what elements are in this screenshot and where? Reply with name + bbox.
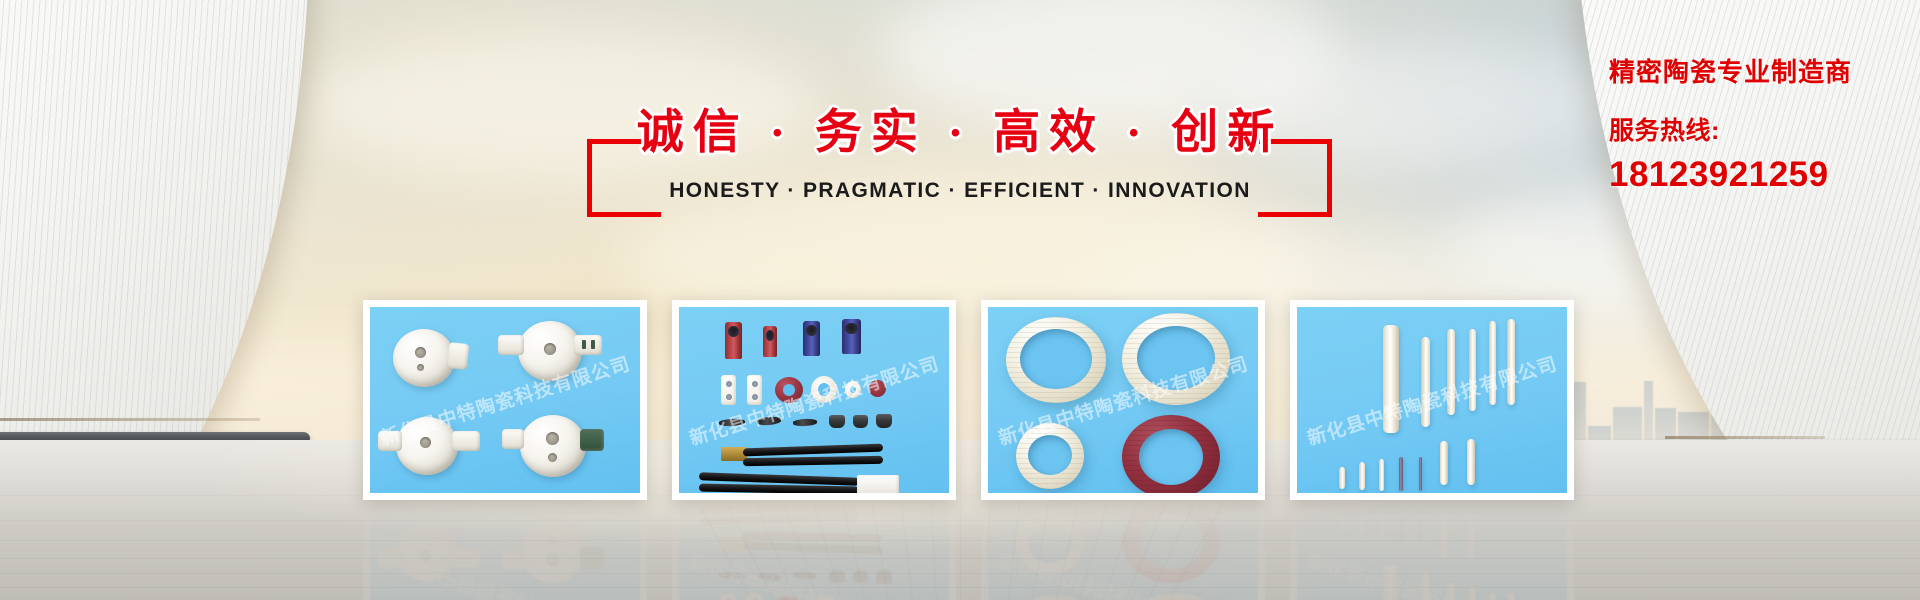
- holder-hole: [415, 347, 426, 358]
- panel-reflection: 新化县中特陶瓷科技有限公司: [672, 498, 956, 600]
- ceramic-ring-white: [811, 376, 837, 403]
- contact-tip: [757, 572, 782, 582]
- ceramic-ring-maroon: [775, 595, 803, 600]
- panel-image-area: 新化县中特陶瓷科技有限公司: [988, 505, 1258, 600]
- ceramic-rod-small-dark: [1419, 457, 1422, 491]
- ceramic-ring-small-white: [845, 381, 861, 398]
- product-panel-ceramic-rings[interactable]: 新化县中特陶瓷科技有限公司: [981, 300, 1265, 500]
- panel-reflection: 新化县中特陶瓷科技有限公司: [363, 498, 647, 600]
- panel-watermark: 新化县中特陶瓷科技有限公司: [1304, 547, 1561, 600]
- ceramic-rod-small-dark: [1399, 507, 1403, 541]
- contact-cap: [876, 414, 892, 428]
- ceramic-sleeve-red: [725, 322, 742, 359]
- hotline-label: 服务热线:: [1609, 111, 1852, 147]
- ceramic-rod: [1507, 319, 1515, 405]
- ceramic-ring-large: [1122, 313, 1230, 405]
- ceramic-rod-small: [1440, 513, 1448, 557]
- ceramic-rod: [1469, 587, 1476, 600]
- ceramic-ring-large: [1006, 595, 1106, 600]
- product-panel-ceramic-lamp-holders[interactable]: 新化县中特陶瓷科技有限公司: [363, 300, 647, 500]
- ceramic-plate: [747, 375, 762, 405]
- ceramic-ring-large: [1122, 593, 1230, 600]
- contact-cap: [829, 415, 845, 428]
- panel-floor-reflections: 新化县中特陶瓷科技有限公司: [0, 498, 1920, 600]
- holder-hole: [548, 536, 557, 545]
- panel-image-area: 新化县中特陶瓷科技有限公司: [988, 307, 1258, 493]
- ceramic-rod-small: [1467, 439, 1475, 485]
- holder-pin: [591, 340, 595, 349]
- ceramic-lamp-holder: [396, 417, 458, 475]
- holder-pin: [582, 340, 586, 349]
- ceramic-rod-small-dark: [1419, 507, 1422, 541]
- ceramic-rod-small: [1359, 508, 1365, 536]
- product-panel-ceramic-rods[interactable]: 新化县中特陶瓷科技有限公司: [1290, 300, 1574, 500]
- panel-image-area: 新化县中特陶瓷科技有限公司: [370, 307, 640, 493]
- ceramic-rod: [1447, 329, 1455, 415]
- ceramic-rod: [1421, 337, 1430, 427]
- ceramic-sleeve-blue: [803, 321, 820, 356]
- ceramic-lamp-holder: [393, 329, 455, 387]
- ceramic-plate: [747, 593, 762, 600]
- holder-side-tab: [502, 429, 524, 449]
- holder-hole: [546, 432, 559, 445]
- ceramic-ring-small-maroon: [869, 380, 886, 397]
- holder-side-tab: [452, 547, 480, 567]
- contact-tip: [719, 418, 745, 426]
- hotline-number[interactable]: 18123921259: [1609, 155, 1852, 195]
- lead-wire: [743, 542, 883, 555]
- holder-side-tab: [498, 335, 524, 355]
- lead-wire: [743, 444, 883, 457]
- holder-side-tab: [452, 431, 480, 451]
- ceramic-rod: [1383, 565, 1399, 600]
- holder-side-tab: [574, 335, 602, 355]
- holder-hole: [417, 364, 424, 371]
- contact-tip: [719, 571, 745, 579]
- holder-terminal-block: [580, 429, 604, 451]
- contact-cap: [876, 570, 892, 584]
- ceramic-rod: [1507, 593, 1515, 600]
- lead-wire: [743, 532, 883, 542]
- panel-image-area: 新化县中特陶瓷科技有限公司: [370, 505, 640, 600]
- ceramic-ring-maroon: [1122, 505, 1220, 583]
- panel-image-area: 新化县中特陶瓷科技有限公司: [679, 505, 949, 600]
- holder-side-tab: [378, 547, 402, 567]
- holder-terminal-block: [580, 547, 604, 569]
- ceramic-plate: [721, 593, 736, 600]
- panel-reflection: 新化县中特陶瓷科技有限公司: [981, 498, 1265, 600]
- ceramic-lamp-holder: [520, 521, 586, 583]
- ceramic-lamp-holder: [518, 321, 582, 381]
- panel-reflection: 新化县中特陶瓷科技有限公司: [1290, 498, 1574, 600]
- contact-cap: [829, 570, 845, 583]
- product-panel-ceramic-sleeves[interactable]: 新化县中特陶瓷科技有限公司: [672, 300, 956, 500]
- ceramic-ring-maroon: [775, 377, 803, 403]
- holder-side-tab: [378, 431, 402, 451]
- holder-hole: [546, 553, 559, 566]
- lead-wire: [699, 512, 859, 526]
- holder-side-tab: [502, 549, 524, 569]
- ceramic-lamp-holder: [520, 415, 586, 477]
- ceramic-sleeve-red: [763, 326, 777, 357]
- ceramic-rod-small: [1440, 441, 1448, 485]
- ceramic-rod-small: [1379, 459, 1384, 491]
- ceramic-ring-white: [811, 595, 837, 600]
- ceramic-rod: [1469, 329, 1476, 411]
- holder-hole: [548, 453, 557, 462]
- ceramic-rod: [1489, 593, 1496, 600]
- holder-hole: [544, 343, 556, 355]
- holder-hole: [420, 550, 431, 561]
- panel-watermark: 新化县中特陶瓷科技有限公司: [1304, 349, 1561, 451]
- ceramic-ring-maroon: [1122, 415, 1220, 493]
- contact-tip: [793, 571, 817, 579]
- ceramic-rod: [1489, 321, 1496, 405]
- contact-cap: [853, 570, 868, 583]
- ceramic-rod-small-dark: [1399, 457, 1403, 491]
- ceramic-ring-large: [1006, 317, 1106, 403]
- ceramic-sleeve-blue: [842, 319, 861, 354]
- contact-block: 精密陶瓷专业制造商 服务热线: 18123921259: [1609, 52, 1852, 195]
- contact-cap: [853, 415, 868, 428]
- wire-terminal-block: [857, 505, 899, 523]
- ceramic-ring-medium: [1016, 509, 1084, 575]
- ceramic-rod-small: [1339, 467, 1345, 489]
- ceramic-rod-small: [1467, 513, 1475, 559]
- promotional-banner: 诚信 · 务实 · 高效 · 创新 HONESTY · PRAGMATIC · …: [0, 0, 1920, 600]
- ceramic-rod-small: [1339, 509, 1345, 531]
- ceramic-ring-medium: [1016, 423, 1084, 489]
- panel-image-area: 新化县中特陶瓷科技有限公司: [1297, 307, 1567, 493]
- ceramic-rod-small: [1359, 462, 1365, 490]
- contact-tip: [793, 418, 817, 426]
- lead-wire: [699, 484, 859, 493]
- holder-side-tab: [447, 342, 470, 370]
- ceramic-rod: [1421, 571, 1430, 600]
- ceramic-lamp-holder: [396, 523, 458, 581]
- company-tagline: 精密陶瓷专业制造商: [1609, 52, 1852, 89]
- contact-tip: [757, 416, 782, 426]
- ceramic-rod: [1383, 325, 1399, 433]
- holder-hole: [420, 437, 431, 448]
- lead-wire: [743, 456, 883, 466]
- ceramic-rod: [1447, 583, 1455, 600]
- panel-image-area: 新化县中特陶瓷科技有限公司: [679, 307, 949, 493]
- panel-image-area: 新化县中特陶瓷科技有限公司: [1297, 505, 1567, 600]
- ceramic-rod-small: [1379, 507, 1384, 539]
- ceramic-plate: [721, 375, 736, 405]
- wire-terminal-block: [857, 475, 899, 493]
